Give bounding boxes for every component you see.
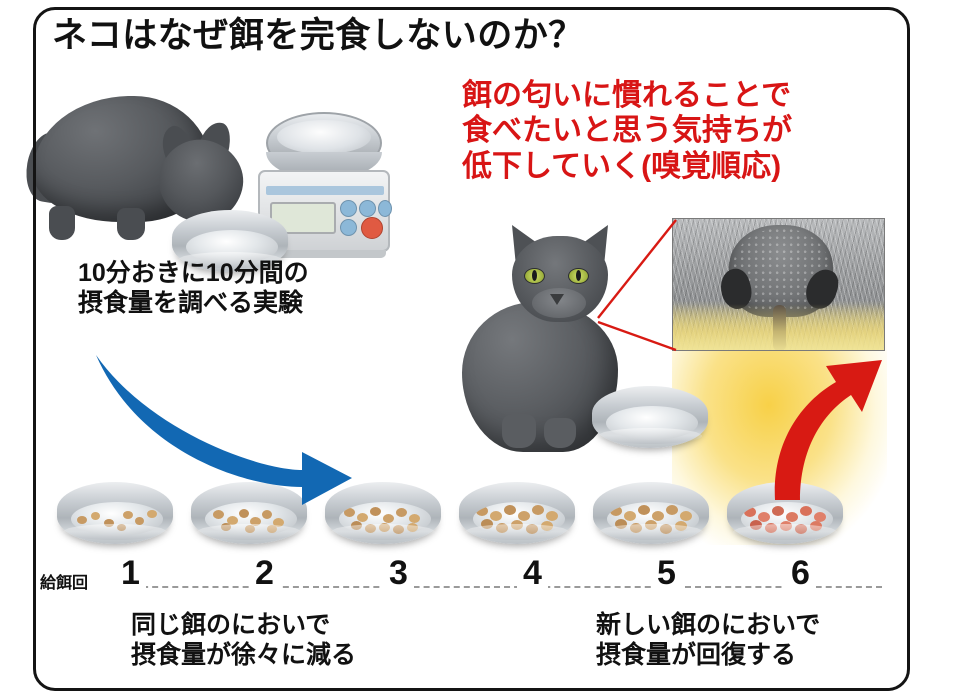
scale-power-button[interactable] bbox=[361, 217, 383, 239]
scale-button-4[interactable] bbox=[340, 219, 357, 236]
axis-number-1: 1 bbox=[115, 556, 146, 592]
bowl-beside-cat bbox=[590, 372, 710, 458]
bowl-5 bbox=[591, 468, 711, 554]
axis-number-4: 4 bbox=[517, 556, 548, 592]
bowl-6 bbox=[725, 468, 845, 554]
bowl-well bbox=[71, 502, 163, 536]
new-food-caption: 新しい餌のにおいで 摂食量が回復する bbox=[596, 610, 820, 670]
bowl-well bbox=[741, 502, 833, 536]
axis-label: 給餌回 bbox=[40, 569, 88, 593]
scale-strip bbox=[266, 186, 384, 195]
bowl-4 bbox=[457, 468, 577, 554]
cat-eye-right bbox=[568, 268, 589, 284]
scale-button-2[interactable] bbox=[359, 200, 376, 217]
bowl-dish bbox=[459, 482, 575, 544]
bowl-well bbox=[473, 502, 565, 536]
red-note-line-3: 低下していく(嗅覚順応) bbox=[462, 149, 792, 184]
scale-button-1[interactable] bbox=[340, 200, 357, 217]
bowl-dish bbox=[57, 482, 173, 544]
nose-photo-glow bbox=[673, 304, 884, 350]
axis-dashed-line bbox=[122, 586, 882, 588]
axis-number-2: 2 bbox=[249, 556, 280, 592]
same-food-caption-line-1: 同じ餌のにおいで bbox=[131, 610, 356, 640]
bowl-well bbox=[607, 502, 699, 536]
scale-button-3[interactable] bbox=[378, 200, 392, 217]
bowl-1 bbox=[55, 468, 175, 554]
bowl-dish bbox=[592, 386, 708, 448]
same-food-caption: 同じ餌のにおいで 摂食量が徐々に減る bbox=[131, 610, 356, 670]
axis-number-6: 6 bbox=[785, 556, 816, 592]
experiment-caption-line-2: 摂食量を調べる実験 bbox=[78, 288, 309, 318]
experiment-caption: 10分おきに10分間の 摂食量を調べる実験 bbox=[78, 258, 309, 318]
bowl-3 bbox=[323, 468, 443, 554]
bowl-well bbox=[205, 502, 297, 536]
cat-eye-left bbox=[524, 268, 545, 284]
scale-bowl-inner bbox=[277, 120, 371, 154]
bowl-well bbox=[339, 502, 431, 536]
olfactory-adaptation-note: 餌の匂いに慣れることで 食べたいと思う気持ちが 低下していく(嗅覚順応) bbox=[462, 78, 792, 184]
new-food-caption-line-1: 新しい餌のにおいで bbox=[596, 610, 820, 640]
bowl-dish bbox=[593, 482, 709, 544]
infographic-canvas: 給餌回 1 2 3 4 5 6 ネコはなぜ餌を完食しないのか？ 餌の匂いに慣れる… bbox=[0, 0, 955, 699]
bowl-dish bbox=[191, 482, 307, 544]
cat-leg-front bbox=[49, 206, 75, 240]
cat-nose-closeup-photo bbox=[672, 218, 885, 351]
new-food-caption-line-2: 摂食量が回復する bbox=[596, 640, 820, 670]
axis-number-3: 3 bbox=[383, 556, 414, 592]
red-note-line-1: 餌の匂いに慣れることで bbox=[462, 78, 792, 113]
cat-pupil-right bbox=[576, 270, 581, 281]
bowl-well bbox=[606, 406, 698, 440]
bowl-series bbox=[0, 468, 955, 560]
cat-pupil-left bbox=[532, 270, 537, 281]
axis-number-5: 5 bbox=[651, 556, 682, 592]
feeding-axis: 給餌回 1 2 3 4 5 6 bbox=[40, 556, 870, 602]
experiment-caption-line-1: 10分おきに10分間の bbox=[78, 258, 309, 288]
bowl-2 bbox=[189, 468, 309, 554]
bowl-dish bbox=[325, 482, 441, 544]
red-note-line-2: 食べたいと思う気持ちが bbox=[462, 113, 792, 148]
bowl-dish bbox=[727, 482, 843, 544]
page-title: ネコはなぜ餌を完食しないのか？ bbox=[52, 17, 584, 56]
same-food-caption-line-2: 摂食量が徐々に減る bbox=[131, 640, 356, 670]
cat-paw-left bbox=[502, 414, 536, 448]
cat-paw-right bbox=[544, 418, 576, 448]
cat-leg-back bbox=[117, 208, 145, 240]
cat-muzzle bbox=[532, 288, 586, 318]
